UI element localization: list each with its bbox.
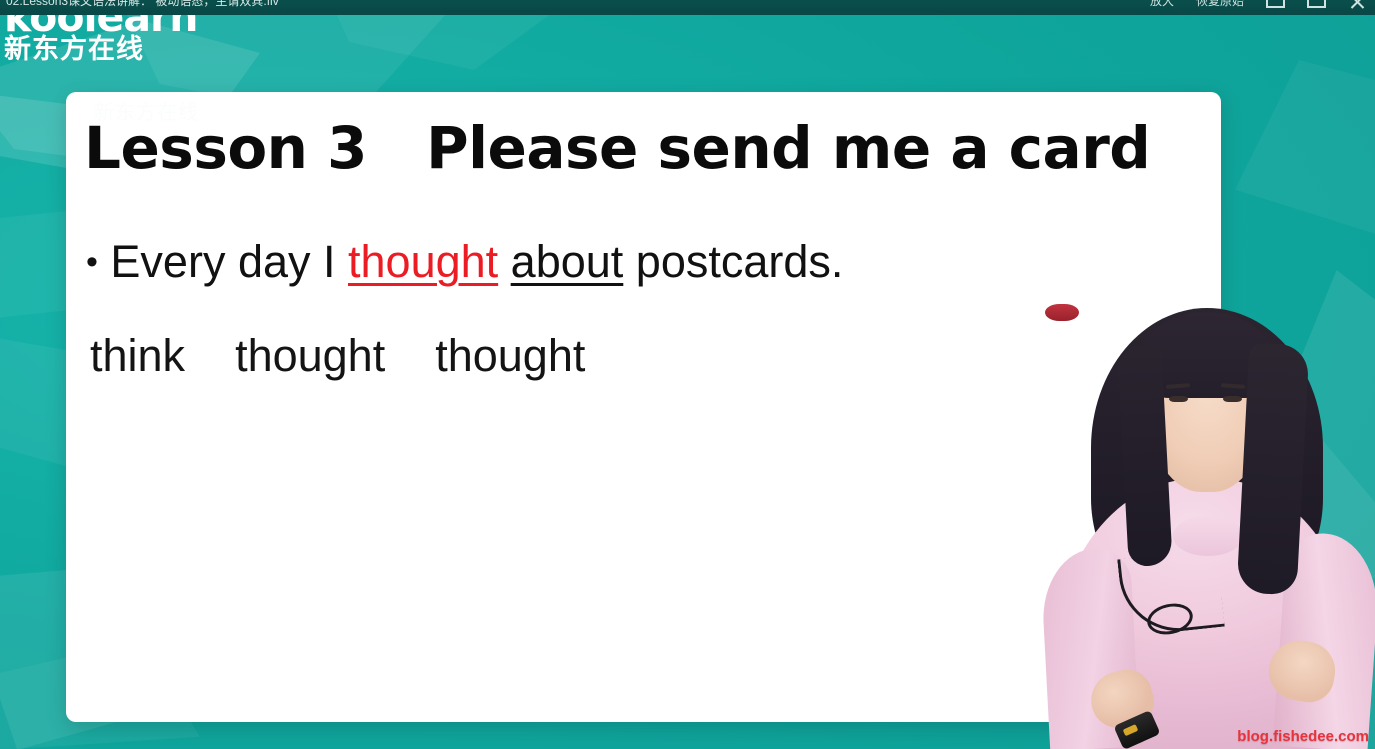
window-title-text: 02.Lesson3课文语法讲解： 被动语态，主谓双宾.flv (6, 0, 279, 7)
slide-verb-forms: think thought thought (90, 327, 585, 385)
bullet-space (498, 236, 511, 287)
instructor-eye-right (1223, 396, 1242, 402)
background-facet (1235, 60, 1375, 240)
window-title-bar: 02.Lesson3课文语法讲解： 被动语态，主谓双宾.flv 放大 恢复原始 (0, 0, 1375, 15)
blog-watermark: blog.fishedee.com (1237, 728, 1369, 745)
slide-bullet-line: • Every day I thought about postcards. (86, 232, 843, 292)
zoom-button[interactable]: 放大 (1150, 0, 1174, 7)
bullet-text-before: Every day I (110, 236, 348, 287)
bullet-text-after: postcards. (623, 236, 843, 287)
maximize-icon[interactable] (1307, 0, 1326, 8)
close-icon[interactable] (1348, 0, 1367, 8)
instructor-mouth (1045, 304, 1079, 321)
highlighted-word-about: about (511, 236, 624, 287)
restore-original-button[interactable]: 恢复原始 (1196, 0, 1244, 7)
highlighted-verb-thought: thought (348, 236, 498, 287)
window-controls: 放大 恢复原始 (1150, 0, 1367, 8)
minimize-icon[interactable] (1266, 0, 1285, 8)
bullet-marker: • (86, 243, 98, 281)
instructor-eye-left (1169, 396, 1188, 402)
instructor-video-overlay (1045, 304, 1375, 749)
slide-title: Lesson 3 Please send me a card (84, 117, 1150, 179)
